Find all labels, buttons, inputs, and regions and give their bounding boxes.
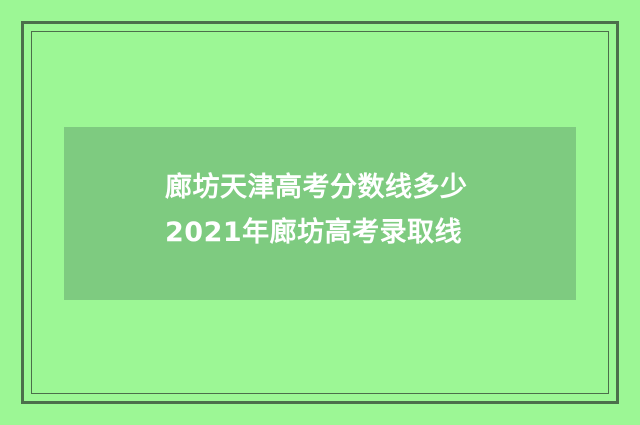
content-panel: 廊坊天津高考分数线多少 2021年廊坊高考录取线 — [64, 127, 576, 300]
headline-line-2: 2021年廊坊高考录取线 — [165, 210, 565, 255]
headline-block: 廊坊天津高考分数线多少 2021年廊坊高考录取线 — [165, 165, 565, 255]
headline-line-1: 廊坊天津高考分数线多少 — [165, 165, 565, 210]
poster-canvas: 廊坊天津高考分数线多少 2021年廊坊高考录取线 — [0, 0, 640, 425]
